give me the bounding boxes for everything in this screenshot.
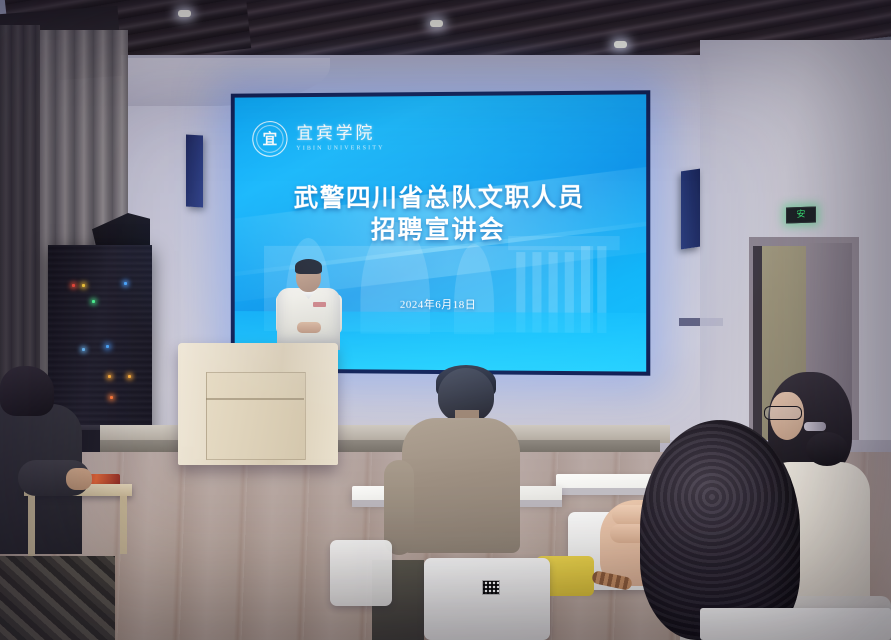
wall-speaker-left-icon	[186, 135, 203, 208]
audience-member-torso	[402, 418, 520, 553]
rack-led-indicator	[124, 282, 127, 285]
side-desk-leg	[120, 496, 127, 554]
audience-member-hair-texture	[640, 420, 800, 640]
rack-led-indicator	[82, 284, 85, 287]
university-seal-icon: 宜	[252, 121, 287, 157]
seal-character: 宜	[263, 131, 278, 146]
window-curtain-edge	[0, 25, 40, 425]
rack-led-indicator	[82, 348, 85, 351]
university-logo: 宜 宜宾学院 YIBIN UNIVERSITY	[252, 120, 384, 156]
slide-title-line2: 招聘宣讲会	[235, 214, 646, 246]
chair[interactable]	[424, 558, 550, 640]
ceiling-spotlight	[178, 10, 191, 17]
eyeglasses-icon	[764, 406, 802, 420]
rack-led-indicator	[108, 375, 111, 378]
slide-title: 武警四川省总队文职人员 招聘宣讲会	[235, 181, 646, 246]
exit-sign-label: 安	[796, 210, 805, 219]
audience-member-hand	[66, 468, 92, 490]
side-desk-leg	[28, 496, 35, 558]
logo-wordmark: 宜宾学院 YIBIN UNIVERSITY	[296, 125, 384, 151]
presenter-hair	[295, 259, 322, 274]
podium-front-panel	[206, 372, 306, 460]
audience-member-legs	[0, 556, 115, 640]
rack-led-indicator	[92, 300, 95, 303]
wall-sign	[679, 318, 723, 326]
university-name-cn: 宜宾学院	[296, 125, 384, 142]
university-name-en: YIBIN UNIVERSITY	[296, 145, 384, 151]
chair[interactable]	[330, 540, 392, 606]
audience-member-hair	[0, 366, 54, 416]
audience-member-hair-bun	[806, 432, 848, 466]
foreground-desk	[700, 608, 891, 640]
presenter-badge	[313, 302, 326, 307]
presenter-hands	[297, 322, 321, 333]
conference-hall-photo: 宜 宜宾学院 YIBIN UNIVERSITY 武警四川省总队文职人员 招聘宣讲…	[0, 0, 891, 640]
chair-qr-tag	[482, 580, 500, 595]
rack-led-indicator	[72, 284, 75, 287]
rack-led-indicator	[128, 375, 131, 378]
ceiling-spotlight	[614, 41, 627, 48]
podium-seam	[206, 398, 304, 400]
slide-title-line1: 武警四川省总队文职人员	[235, 181, 646, 214]
hair-clip	[804, 422, 826, 431]
rack-led-indicator	[106, 345, 109, 348]
wall-speaker-right-icon	[681, 169, 700, 250]
ceiling-spotlight	[430, 20, 443, 27]
rack-led-indicator	[110, 396, 113, 399]
running-man-exit-icon: 安	[786, 206, 816, 223]
